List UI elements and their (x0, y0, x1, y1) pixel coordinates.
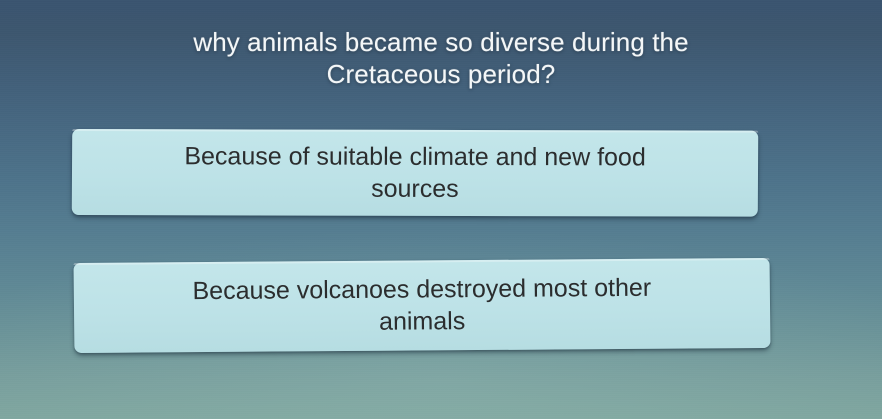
answer-option-0-label: Because of suitable climate and new food… (166, 140, 664, 205)
quiz-question-screen: why animals became so diverse during the… (0, 0, 882, 419)
question-block: why animals became so diverse during the… (0, 26, 882, 90)
answer-option-0[interactable]: Because of suitable climate and new food… (72, 129, 758, 217)
answer-option-1[interactable]: Because volcanoes destroyed most other a… (74, 258, 771, 353)
question-text: why animals became so diverse during the… (90, 26, 792, 90)
answer-option-1-label: Because volcanoes destroyed most other a… (174, 272, 669, 340)
